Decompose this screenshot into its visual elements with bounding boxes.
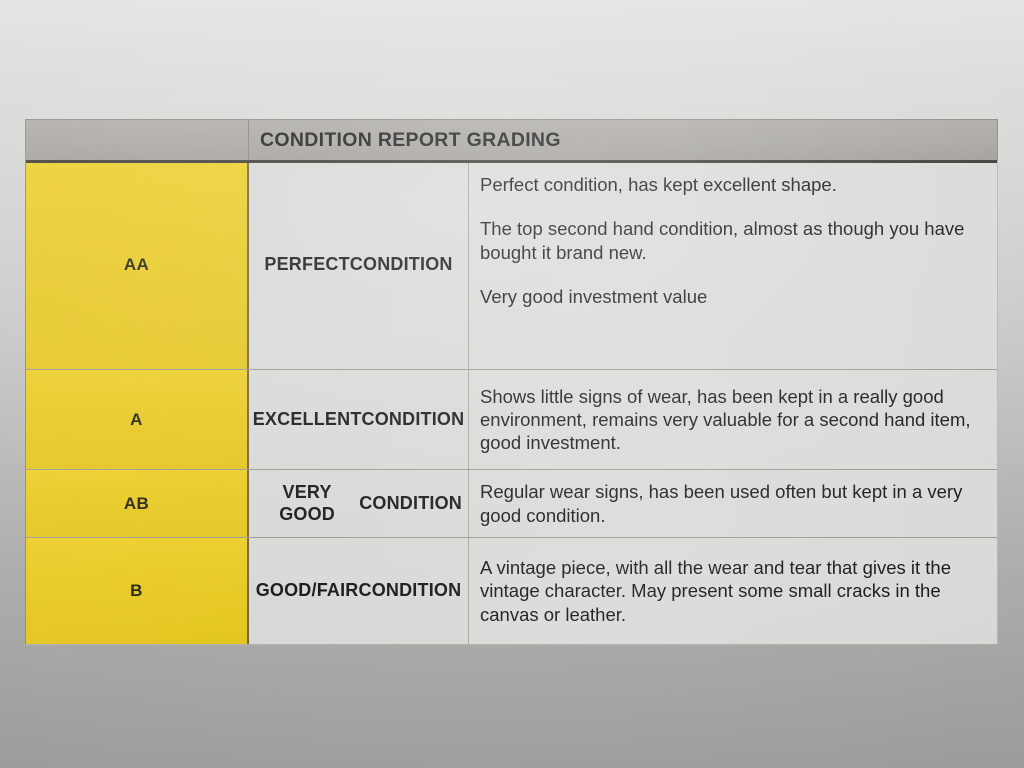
- table-header-band: CONDITION REPORT GRADING: [25, 119, 998, 161]
- condition-name-cell-aa: PERFECT CONDITION: [249, 161, 469, 369]
- grade-code-cell-a: A: [26, 370, 249, 469]
- description-paragraph: Perfect condition, has kept excellent sh…: [480, 173, 983, 196]
- condition-name-line-1: VERY GOOD: [255, 482, 359, 526]
- table-row: A EXCELLENT CONDITION Shows little signs…: [26, 369, 997, 469]
- description-paragraph: Regular wear signs, has been used often …: [480, 480, 983, 527]
- grade-code-label: A: [130, 410, 143, 430]
- grade-code-cell-aa: AA: [26, 161, 249, 369]
- condition-name-cell-b: GOOD/FAIR CONDITION: [249, 538, 469, 644]
- condition-name-cell-ab: VERY GOOD CONDITION: [249, 470, 469, 537]
- description-cell-b: A vintage piece, with all the wear and t…: [469, 538, 997, 644]
- grade-code-cell-b: B: [26, 538, 249, 644]
- table-row: AB VERY GOOD CONDITION Regular wear sign…: [26, 469, 997, 537]
- table-row: B GOOD/FAIR CONDITION A vintage piece, w…: [26, 537, 997, 644]
- description-cell-a: Shows little signs of wear, has been kep…: [469, 370, 997, 469]
- table-body: AA PERFECT CONDITION Perfect condition, …: [25, 161, 998, 645]
- table-row: AA PERFECT CONDITION Perfect condition, …: [26, 161, 997, 369]
- condition-name-line-2: CONDITION: [359, 493, 462, 515]
- description-paragraph: Shows little signs of wear, has been kep…: [480, 385, 983, 455]
- description-cell-ab: Regular wear signs, has been used often …: [469, 470, 997, 537]
- table-header-title-cell: CONDITION REPORT GRADING: [249, 120, 997, 161]
- grade-code-label: AA: [124, 255, 149, 275]
- condition-report-grading-table: CONDITION REPORT GRADING AA PERFECT COND…: [25, 119, 998, 646]
- condition-name-line-2: CONDITION: [362, 409, 465, 431]
- description-cell-aa: Perfect condition, has kept excellent sh…: [469, 161, 997, 369]
- description-paragraph: The top second hand condition, almost as…: [480, 217, 983, 264]
- page-title: CONDITION REPORT GRADING: [260, 129, 561, 152]
- condition-name-cell-a: EXCELLENT CONDITION: [249, 370, 469, 469]
- condition-name-line-1: EXCELLENT: [253, 409, 362, 431]
- condition-name-line-1: PERFECT: [264, 254, 349, 276]
- photographed-paper-sheet: CONDITION REPORT GRADING AA PERFECT COND…: [0, 0, 1024, 768]
- grade-code-label: B: [130, 581, 143, 601]
- grade-code-cell-ab: AB: [26, 470, 249, 537]
- header-bottom-rule: [26, 160, 997, 163]
- grade-code-label: AB: [124, 494, 149, 514]
- condition-name-line-2: CONDITION: [359, 580, 462, 602]
- description-paragraph: Very good investment value: [480, 285, 983, 308]
- table-header-left-cell: [26, 120, 249, 161]
- condition-name-line-1: GOOD/FAIR: [256, 580, 359, 602]
- condition-name-line-2: CONDITION: [350, 254, 453, 276]
- description-paragraph: A vintage piece, with all the wear and t…: [480, 556, 983, 626]
